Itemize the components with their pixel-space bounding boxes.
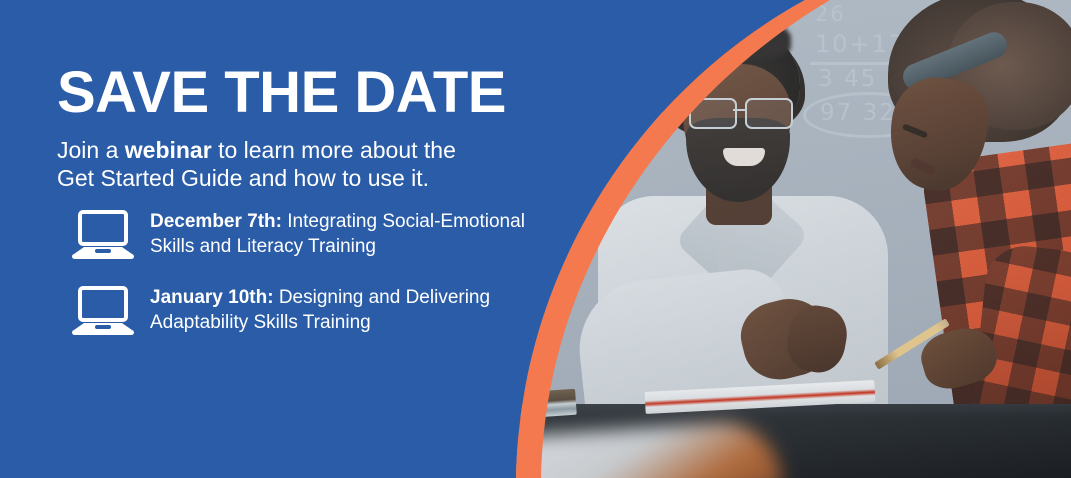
- event-label: December 7th: Integrating Social-Emotion…: [150, 206, 550, 259]
- event-date: January 10th:: [150, 287, 274, 308]
- event-item-december[interactable]: December 7th: Integrating Social-Emotion…: [72, 206, 550, 260]
- laptop-icon: [72, 286, 134, 336]
- subhead-text-before: Join a: [57, 137, 125, 163]
- save-the-date-banner: 26 10+17 3 45 97 32: [0, 0, 1071, 478]
- event-item-january[interactable]: January 10th: Designing and Delivering A…: [72, 282, 550, 336]
- event-date: December 7th:: [150, 211, 282, 232]
- page-title: SAVE THE DATE: [57, 64, 506, 122]
- subhead-emphasis: webinar: [125, 137, 212, 163]
- banner-content: SAVE THE DATE Join a webinar to learn mo…: [0, 0, 470, 478]
- subheadline: Join a webinar to learn more about the G…: [57, 136, 457, 192]
- event-label: January 10th: Designing and Delivering A…: [150, 282, 550, 335]
- laptop-icon: [72, 210, 134, 260]
